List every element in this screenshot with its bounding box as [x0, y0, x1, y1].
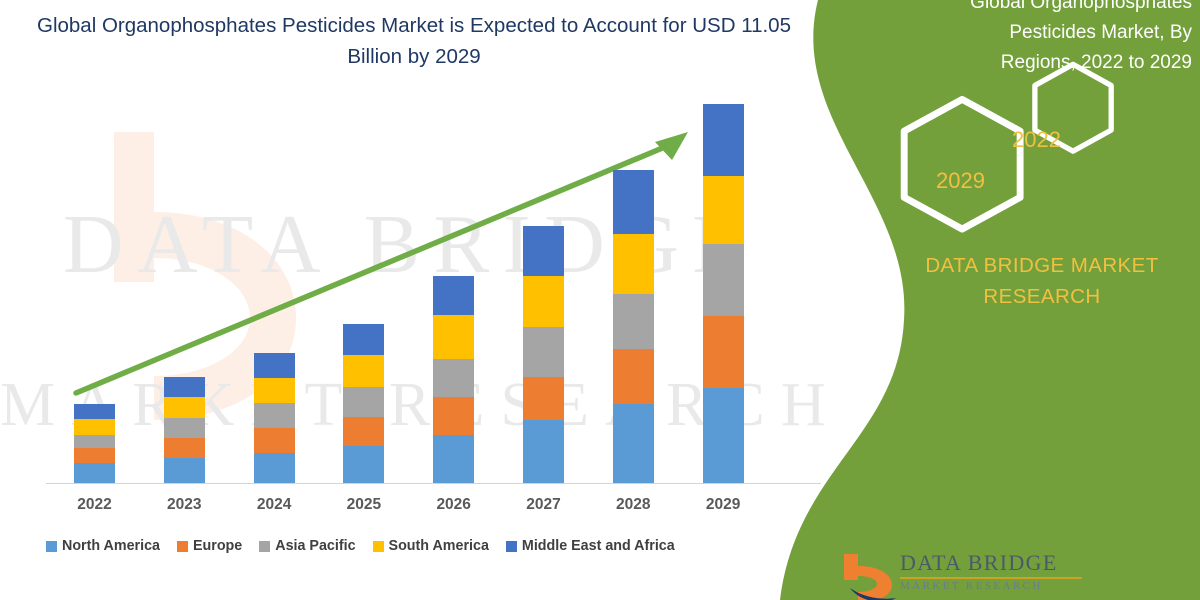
bar-segment-2029-north-america	[703, 388, 744, 483]
databridge-b-logo-icon	[838, 552, 896, 600]
bar-segment-2028-north-america	[613, 404, 654, 483]
bar-segment-2027-north-america	[523, 420, 564, 483]
bar-segment-2023-europe	[164, 438, 205, 458]
green-panel-brand: DATA BRIDGE MARKET RESEARCH	[894, 250, 1190, 312]
bar-segment-2022-asia-pacific	[74, 435, 115, 448]
bottom-logo-text: DATA BRIDGE	[900, 550, 1058, 576]
bar-segment-2029-europe	[703, 316, 744, 388]
bar-segment-2024-middle-east-and-africa	[254, 353, 295, 378]
bar-segment-2024-europe	[254, 428, 295, 453]
x-axis-label-2025: 2025	[319, 496, 409, 514]
legend-label: Asia Pacific	[275, 538, 355, 554]
legend-label: Middle East and Africa	[522, 538, 675, 554]
bar-segment-2027-europe	[523, 377, 564, 420]
bar-segment-2028-europe	[613, 349, 654, 404]
bar-segment-2025-asia-pacific	[343, 387, 384, 417]
x-axis-label-2028: 2028	[588, 496, 678, 514]
bottom-logo-subtext: MARKET RESEARCH	[900, 580, 1043, 592]
bar-segment-2029-asia-pacific	[703, 244, 744, 316]
bar-2029	[703, 104, 744, 483]
bar-segment-2025-south-america	[343, 355, 384, 387]
bar-segment-2023-asia-pacific	[164, 418, 205, 438]
stacked-bar-chart: 20222023202420252026202720282029	[0, 0, 820, 600]
x-axis-line	[46, 483, 821, 484]
bar-segment-2028-asia-pacific	[613, 294, 654, 349]
legend-item-middle-east-and-africa[interactable]: Middle East and Africa	[506, 538, 675, 554]
legend-item-south-america[interactable]: South America	[373, 538, 489, 554]
bar-segment-2023-north-america	[164, 458, 205, 483]
bar-segment-2028-middle-east-and-africa	[613, 170, 654, 234]
bar-segment-2029-south-america	[703, 176, 744, 244]
legend-swatch-icon	[46, 541, 57, 552]
bar-segment-2026-asia-pacific	[433, 359, 474, 397]
bar-segment-2025-europe	[343, 417, 384, 446]
bar-segment-2022-south-america	[74, 419, 115, 435]
legend-label: South America	[389, 538, 489, 554]
bar-segment-2023-middle-east-and-africa	[164, 377, 205, 397]
bar-segment-2027-asia-pacific	[523, 327, 564, 376]
bar-2027	[523, 226, 564, 483]
legend-label: North America	[62, 538, 160, 554]
bar-2023	[164, 377, 205, 483]
legend-swatch-icon	[177, 541, 188, 552]
x-axis-label-2026: 2026	[409, 496, 499, 514]
x-axis-label-2022: 2022	[50, 496, 140, 514]
bar-segment-2023-south-america	[164, 397, 205, 418]
bar-segment-2024-asia-pacific	[254, 403, 295, 428]
legend-item-asia-pacific[interactable]: Asia Pacific	[259, 538, 355, 554]
bar-segment-2026-south-america	[433, 315, 474, 359]
bar-segment-2028-south-america	[613, 234, 654, 294]
bottom-logo: DATA BRIDGE MARKET RESEARCH	[838, 552, 1138, 600]
bar-segment-2025-north-america	[343, 446, 384, 483]
x-axis-label-2024: 2024	[229, 496, 319, 514]
bar-segment-2026-europe	[433, 397, 474, 434]
bar-segment-2024-north-america	[254, 453, 295, 483]
legend-swatch-icon	[373, 541, 384, 552]
bottom-logo-divider	[900, 577, 1082, 579]
bar-segment-2024-south-america	[254, 378, 295, 403]
bar-2025	[343, 324, 384, 483]
bar-2026	[433, 276, 474, 483]
bar-segment-2027-south-america	[523, 276, 564, 327]
legend-swatch-icon	[506, 541, 517, 552]
bar-2022	[74, 404, 115, 483]
bar-segment-2022-europe	[74, 448, 115, 463]
infographic-canvas: DATA BRIDGE MARKET RESEARCH Global Organ…	[0, 0, 1200, 600]
legend-label: Europe	[193, 538, 242, 554]
bar-segment-2022-middle-east-and-africa	[74, 404, 115, 419]
chart-legend: North AmericaEuropeAsia PacificSouth Ame…	[46, 538, 786, 554]
legend-item-europe[interactable]: Europe	[177, 538, 242, 554]
legend-swatch-icon	[259, 541, 270, 552]
x-axis-label-2023: 2023	[139, 496, 229, 514]
bar-2024	[254, 353, 295, 483]
green-side-panel: Global Organophosphates Pesticides Marke…	[780, 0, 1200, 600]
bar-segment-2026-north-america	[433, 435, 474, 483]
bar-segment-2022-north-america	[74, 463, 115, 483]
hexagon-2022-label: 2022	[1012, 127, 1061, 153]
bar-2028	[613, 170, 654, 483]
legend-item-north-america[interactable]: North America	[46, 538, 160, 554]
bar-segment-2029-middle-east-and-africa	[703, 104, 744, 177]
hexagon-2029-label: 2029	[936, 168, 985, 194]
bar-segment-2027-middle-east-and-africa	[523, 226, 564, 276]
bar-segment-2026-middle-east-and-africa	[433, 276, 474, 315]
x-axis-label-2029: 2029	[678, 496, 768, 514]
x-axis-label-2027: 2027	[499, 496, 589, 514]
bar-segment-2025-middle-east-and-africa	[343, 324, 384, 355]
